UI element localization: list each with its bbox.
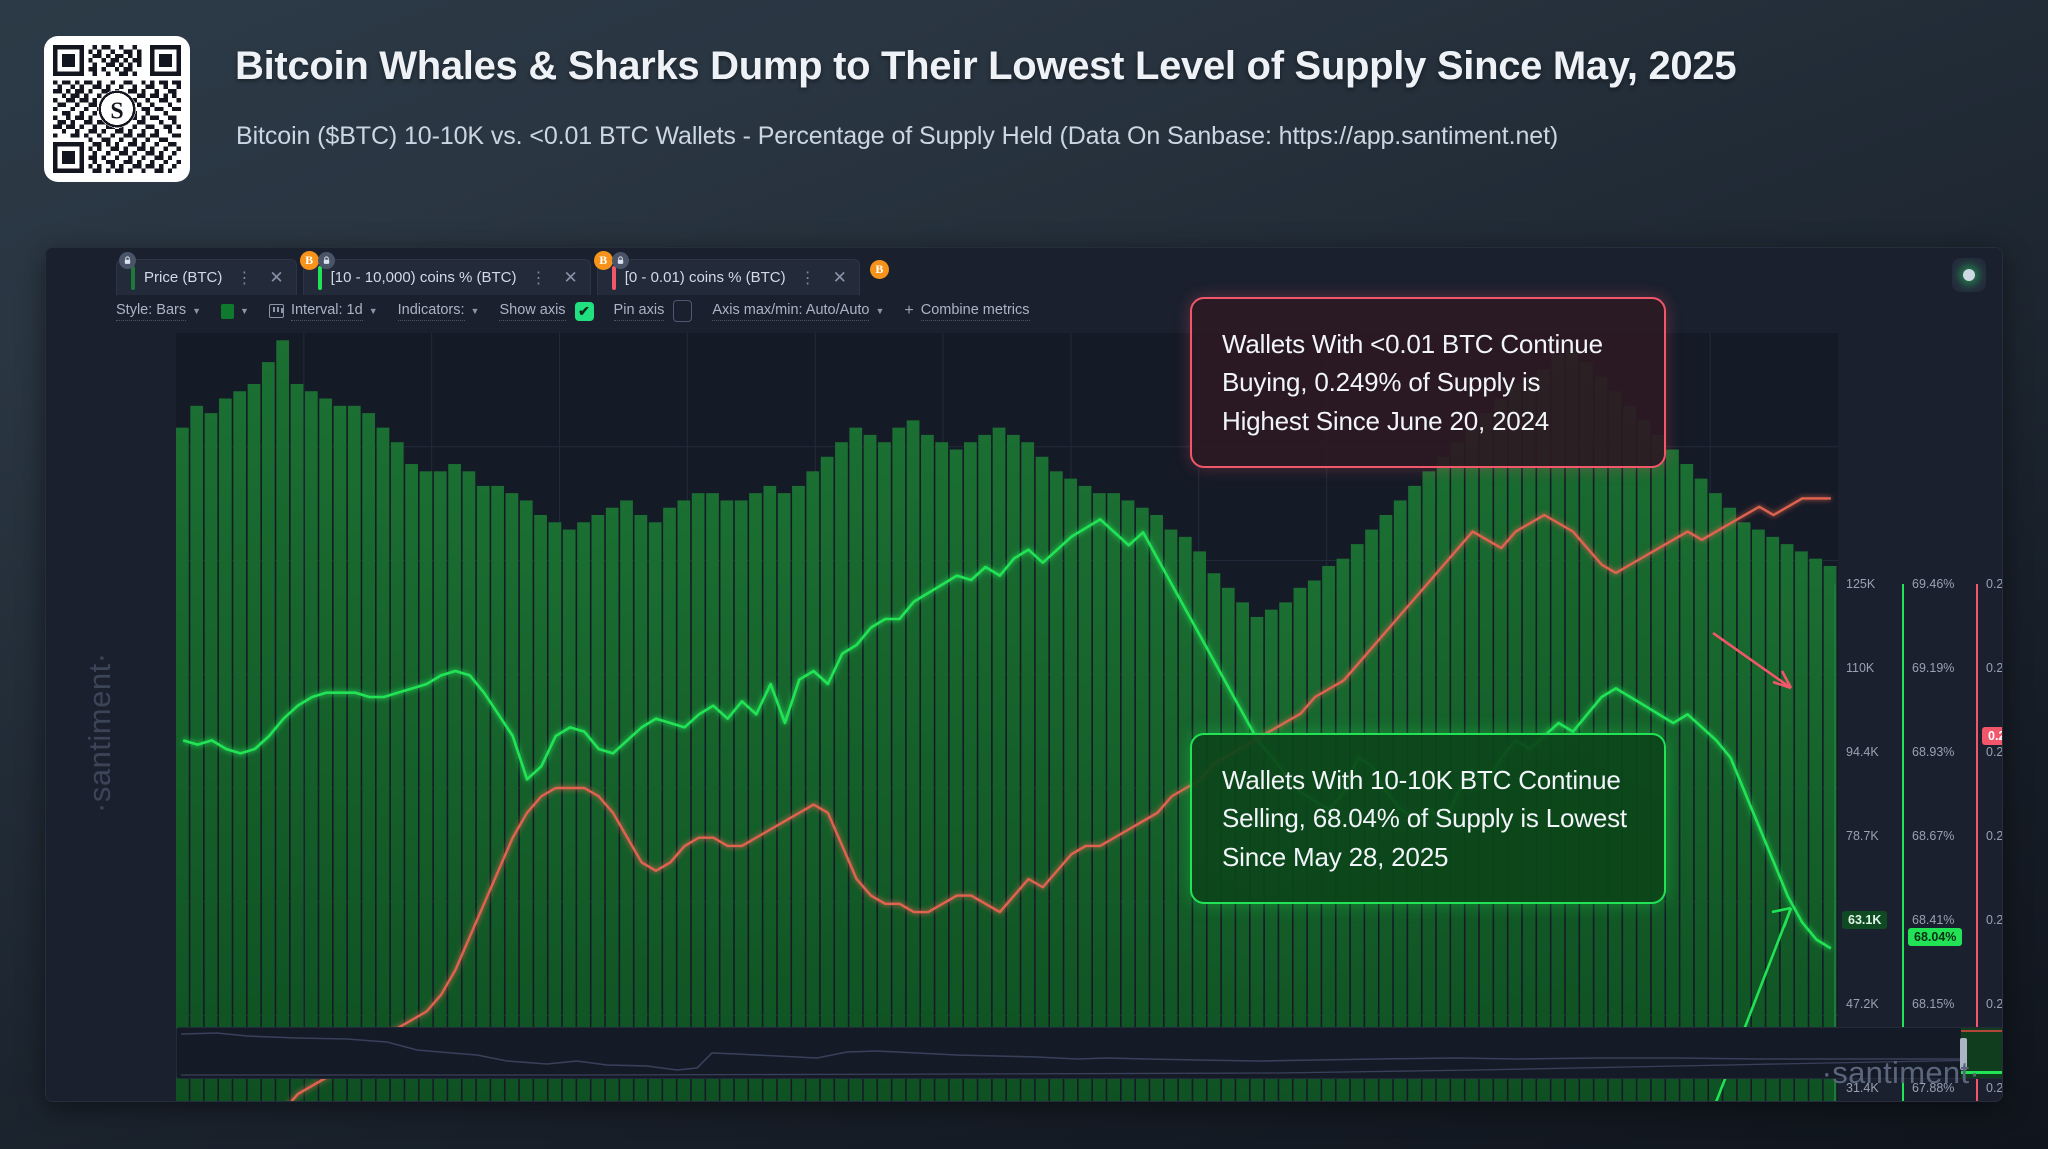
price-bar [463, 471, 476, 1102]
price-bar [1136, 508, 1149, 1102]
price-bar [1007, 435, 1020, 1102]
price-bar [1050, 471, 1063, 1102]
price-bar [835, 442, 848, 1102]
price-bar [864, 435, 877, 1102]
price-bar [1021, 442, 1034, 1102]
price-bar [334, 406, 347, 1102]
price-bar [792, 486, 805, 1102]
price-bar [806, 471, 819, 1102]
price-bar [1093, 493, 1106, 1102]
price-bar [921, 435, 934, 1102]
axis-tick-label: 0.243% [1986, 1081, 2003, 1095]
price-bar [1064, 479, 1077, 1102]
lock-icon [612, 252, 629, 269]
price-bar [305, 391, 318, 1102]
status-dot [1963, 269, 1975, 281]
navigator-overview [177, 1028, 2003, 1079]
tab-color-swatch [612, 266, 616, 290]
price-bar [1165, 530, 1178, 1102]
price-bar [434, 471, 447, 1102]
price-bar [405, 464, 418, 1102]
price-bar [577, 522, 590, 1102]
axis-tick-label: 125K [1846, 577, 1875, 591]
price-bar [735, 500, 748, 1102]
bar-chart-icon [269, 304, 284, 318]
kebab-menu-icon[interactable]: ⋮ [531, 268, 547, 288]
price-bar [348, 406, 361, 1102]
axis-tick-label: 0.25% [1986, 661, 2003, 675]
axis-tick-label: 47.2K [1846, 997, 1879, 1011]
price-bar [1795, 551, 1808, 1102]
price-bar [248, 384, 261, 1102]
price-bar [1695, 479, 1708, 1102]
bitcoin-badge-trailing: B [870, 260, 889, 279]
watermark-corner: ·santiment· [1822, 1055, 1980, 1091]
show-axis-toggle[interactable]: Show axis ✔ [499, 302, 593, 321]
price-bar [878, 442, 891, 1102]
price-bar [634, 515, 647, 1102]
price-bar [620, 500, 633, 1102]
tab-whales[interactable]: B [10 - 10,000) coins % (BTC) ⋮ ✕ [303, 259, 591, 295]
price-bar [491, 486, 504, 1102]
price-bar [1680, 464, 1693, 1102]
chart-panel-body: Price (BTC) ⋮ ✕ B [10 - 10,000) coins % … [46, 248, 2002, 1101]
price-bar [821, 457, 834, 1102]
y-axes: 125K110K94.4K78.7K63.1K47.2K31.4K15.7K06… [1846, 584, 2003, 1102]
price-bar [1122, 500, 1135, 1102]
axis-tick-label: 69.46% [1912, 577, 1954, 591]
axis-minmax-dropdown[interactable]: Axis max/min: Auto/Auto ▼ [712, 302, 884, 321]
axis-tick-label: 94.4K [1846, 745, 1879, 759]
price-bar [677, 500, 690, 1102]
header: S Bitcoin Whales & Sharks Dump to Their … [0, 0, 2048, 222]
price-bar [176, 428, 189, 1102]
price-bar [506, 493, 519, 1102]
axis-tick-label: 0.249% [1986, 745, 2003, 759]
price-bar [233, 391, 246, 1102]
price-bar [907, 420, 920, 1102]
price-bar [362, 413, 375, 1102]
price-bar [520, 500, 533, 1102]
axis-tick-label: 0.246% [1986, 913, 2003, 927]
price-bar [534, 515, 547, 1102]
axis-tick-label: 0.251% [1986, 577, 2003, 591]
price-bar [706, 493, 719, 1102]
price-bar [778, 493, 791, 1102]
price-bar [849, 428, 862, 1102]
price-bar [720, 500, 733, 1102]
close-icon[interactable]: ✕ [263, 268, 289, 288]
price-bar [649, 522, 662, 1102]
price-bar [592, 515, 605, 1102]
style-dropdown[interactable]: Style: Bars ▼ [116, 302, 201, 321]
price-bar [563, 530, 576, 1102]
green-callout: Wallets With 10-10K BTC Continue Selling… [1190, 733, 1666, 904]
price-bar [190, 406, 203, 1102]
axis-tick-label: 78.7K [1846, 829, 1879, 843]
axis-current-value-badge: 68.04% [1908, 928, 1962, 946]
price-bar [448, 464, 461, 1102]
price-bar [1036, 457, 1049, 1102]
axis-tick-label: 68.15% [1912, 997, 1954, 1011]
metric-tabs: Price (BTC) ⋮ ✕ B [10 - 10,000) coins % … [46, 248, 2002, 295]
tab-color-swatch [131, 266, 135, 290]
axis-line [1902, 584, 1904, 1102]
chart-panel: Price (BTC) ⋮ ✕ B [10 - 10,000) coins % … [45, 247, 2003, 1102]
price-bar [391, 442, 404, 1102]
color-swatch-icon [221, 304, 234, 319]
tab-label: Price (BTC) [144, 269, 222, 286]
price-bar [663, 508, 676, 1102]
lock-icon [318, 252, 335, 269]
bitcoin-badge: B [300, 251, 319, 270]
price-bar [319, 399, 332, 1102]
tab-price-btc[interactable]: Price (BTC) ⋮ ✕ [116, 259, 297, 295]
chevron-down-icon: ▼ [471, 306, 480, 316]
axis-tick-label: 0.247% [1986, 829, 2003, 843]
price-bar [377, 428, 390, 1102]
axis-tick-label: 110K [1846, 661, 1874, 675]
price-bar [692, 493, 705, 1102]
range-navigator[interactable] [176, 1027, 2003, 1079]
interval-dropdown[interactable]: Interval: 1d ▼ [269, 302, 378, 321]
price-bar [993, 428, 1006, 1102]
axis-line [1834, 584, 1836, 1102]
axis-tick-label: 68.41% [1912, 913, 1954, 927]
axis-tick-label: 69.19% [1912, 661, 1954, 675]
pin-axis-label: Pin axis [614, 302, 665, 321]
close-icon[interactable]: ✕ [827, 268, 853, 288]
price-bar [1766, 537, 1779, 1102]
axis-line [1976, 584, 1978, 1102]
price-bar [978, 435, 991, 1102]
svg-text:S: S [110, 98, 123, 124]
price-bar [291, 384, 304, 1102]
chevron-down-icon: ▼ [240, 306, 249, 316]
screenshot-root: S Bitcoin Whales & Sharks Dump to Their … [0, 0, 2048, 1149]
chevron-down-icon: ▼ [875, 306, 884, 316]
chevron-down-icon: ▼ [369, 306, 378, 316]
combine-metrics-label: Combine metrics [921, 302, 1030, 321]
watermark-side: ·santiment· [82, 652, 118, 813]
kebab-menu-icon[interactable]: ⋮ [800, 268, 816, 288]
axis-tick-label: 68.93% [1912, 745, 1954, 759]
page-title: Bitcoin Whales & Sharks Dump to Their Lo… [235, 44, 1736, 89]
interval-label: Interval: 1d [291, 302, 363, 321]
tab-color-swatch [318, 266, 322, 290]
qr-code-icon[interactable]: S [44, 36, 190, 182]
indicators-dropdown[interactable]: Indicators: ▼ [398, 302, 480, 321]
lock-icon [119, 252, 136, 269]
price-bar [964, 442, 977, 1102]
kebab-menu-icon[interactable]: ⋮ [236, 268, 252, 288]
price-bar [1107, 493, 1120, 1102]
price-bar [950, 449, 963, 1102]
indicators-label: Indicators: [398, 302, 465, 321]
price-bar [477, 486, 490, 1102]
tab-label: [10 - 10,000) coins % (BTC) [331, 269, 517, 286]
pin-axis-toggle[interactable]: Pin axis [614, 300, 693, 322]
price-bar [935, 442, 948, 1102]
price-bar [1738, 522, 1751, 1102]
price-bar [763, 486, 776, 1102]
close-icon[interactable]: ✕ [558, 268, 584, 288]
price-bar [1079, 486, 1092, 1102]
checkbox-empty-icon[interactable] [673, 300, 692, 322]
axis-current-value-badge: 63.1K [1842, 911, 1887, 929]
price-bar [892, 428, 905, 1102]
price-bar [1709, 493, 1722, 1102]
bitcoin-badge: B [594, 251, 613, 270]
price-bar [205, 413, 218, 1102]
show-axis-label: Show axis [499, 302, 565, 321]
price-bar [749, 493, 762, 1102]
price-bar [1666, 449, 1679, 1102]
price-bar [1723, 508, 1736, 1102]
chart-toolbar: Style: Bars ▼ ▼ Interval: 1d ▼ Indicator… [116, 296, 1050, 326]
chevron-down-icon: ▼ [192, 306, 201, 316]
price-bar [1781, 544, 1794, 1102]
page-subtitle: Bitcoin ($BTC) 10-10K vs. <0.01 BTC Wall… [236, 122, 1558, 151]
plus-icon: + [904, 302, 913, 320]
price-bar [606, 508, 619, 1102]
combine-metrics-button[interactable]: + Combine metrics [904, 302, 1029, 321]
record-indicator-icon[interactable] [1952, 258, 1986, 292]
price-bar [1809, 559, 1822, 1102]
price-bar [549, 522, 562, 1102]
axis-current-value-badge: 0.249% [1982, 727, 2003, 745]
check-icon[interactable]: ✔ [575, 302, 594, 321]
axis-tick-label: 0.244% [1986, 997, 2003, 1011]
tab-small-wallets[interactable]: B [0 - 0.01) coins % (BTC) ⋮ ✕ [597, 259, 860, 295]
red-callout: Wallets With <0.01 BTC Continue Buying, … [1190, 297, 1666, 468]
tab-label: [0 - 0.01) coins % (BTC) [625, 269, 786, 286]
axis-minmax-label: Axis max/min: Auto/Auto [712, 302, 869, 321]
style-label: Style: Bars [116, 302, 186, 321]
axis-tick-label: 68.67% [1912, 829, 1954, 843]
color-dropdown[interactable]: ▼ [221, 304, 249, 319]
